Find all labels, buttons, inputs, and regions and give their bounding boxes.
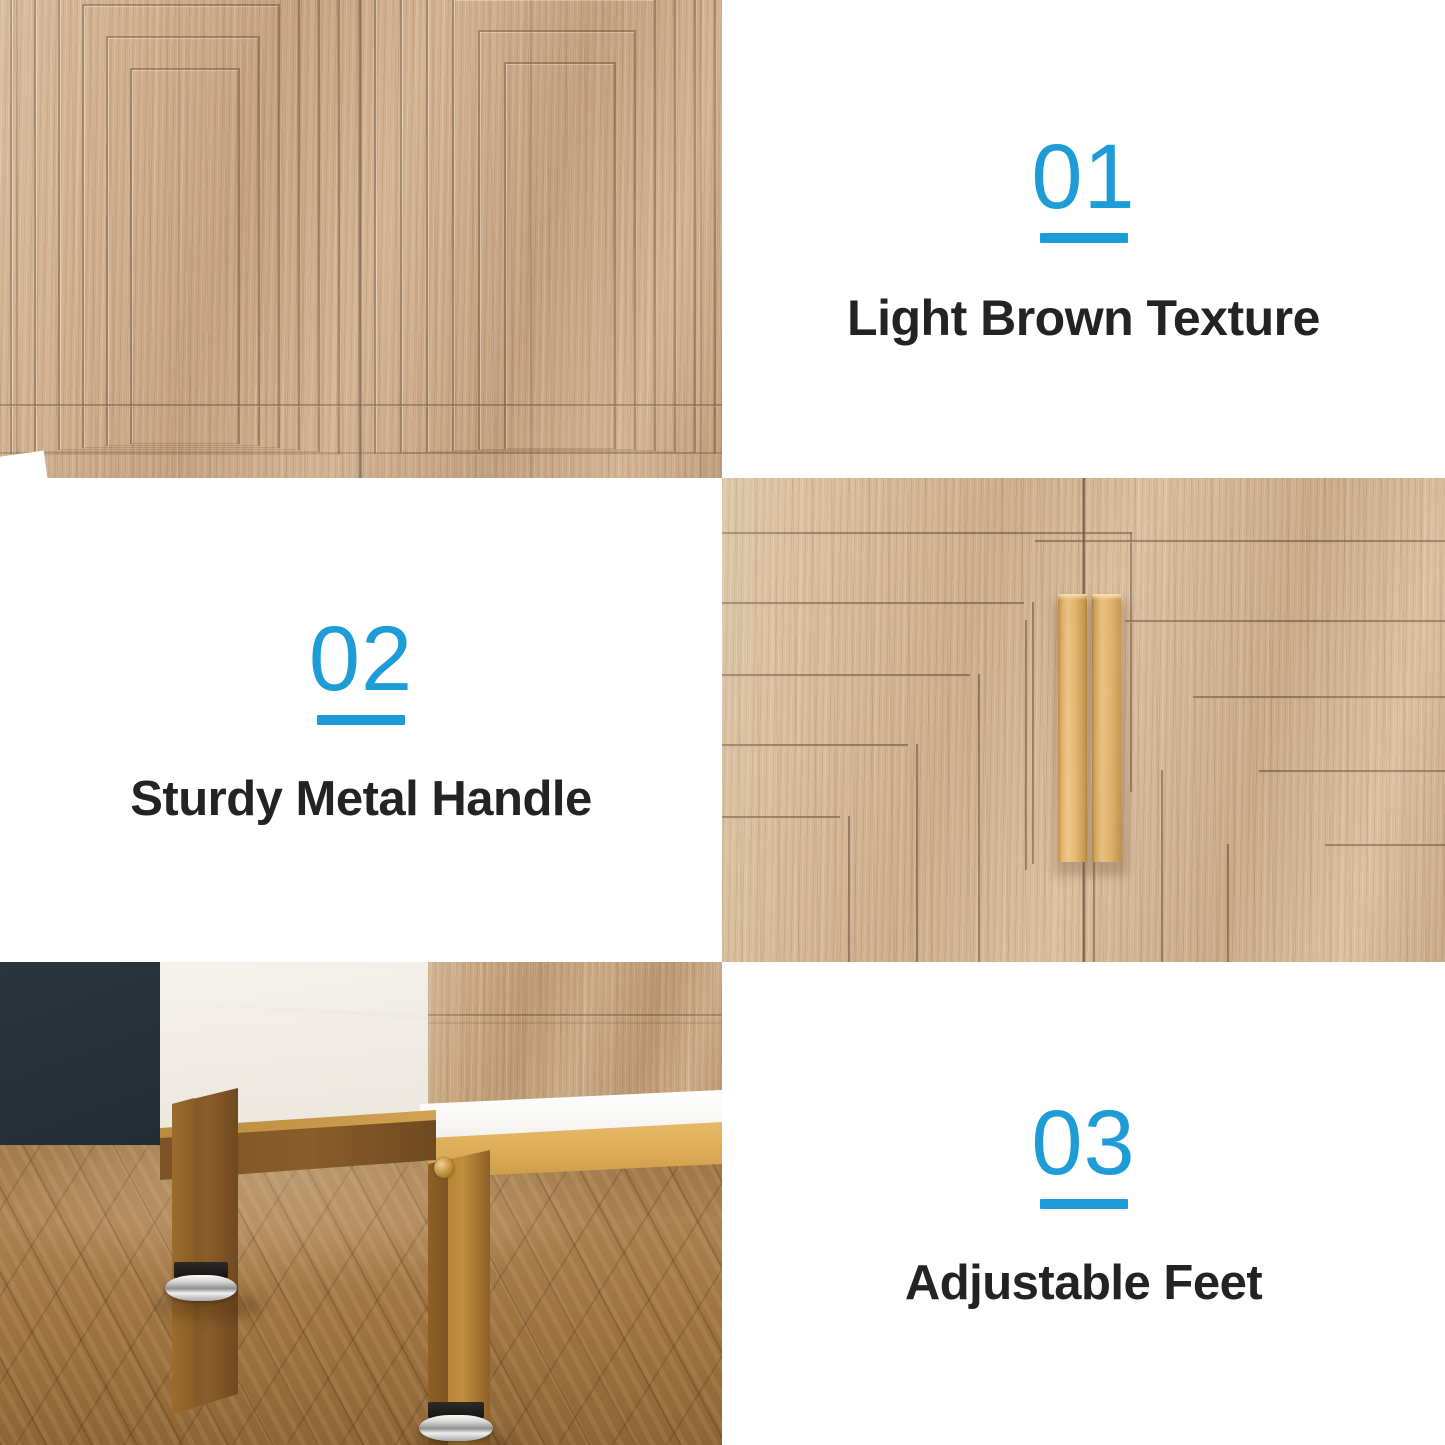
photo-corner-cut: [0, 451, 48, 478]
feature-number-underline: [1040, 233, 1128, 243]
feature-number-underline: [1040, 1199, 1128, 1209]
feature-number-01: 01: [1031, 131, 1135, 223]
feature-number-03-group: 03: [1031, 1097, 1135, 1209]
foot-chrome-pad: [419, 1415, 493, 1441]
feature-photo-adjustable-feet: [0, 962, 722, 1445]
feature-photo-wood-texture: [0, 0, 722, 478]
feature-number-02-group: 02: [309, 613, 413, 725]
cabinet-wood-door: [428, 962, 722, 1112]
floor-gloss: [0, 1145, 722, 1445]
feature-callout-02: 02 Sturdy Metal Handle: [0, 478, 722, 962]
foot-chrome-pad: [165, 1275, 237, 1301]
wood-lighting: [0, 0, 722, 478]
feature-number-03: 03: [1031, 1097, 1135, 1189]
feature-title-02: Sturdy Metal Handle: [130, 771, 592, 827]
herringbone-floor: [0, 1145, 722, 1445]
feature-number-02: 02: [309, 613, 413, 705]
feature-photo-metal-handle: [722, 478, 1445, 962]
feature-callout-01: 01 Light Brown Texture: [722, 0, 1445, 478]
feature-title-03: Adjustable Feet: [905, 1255, 1262, 1311]
adjustable-foot-rear: [174, 1262, 228, 1302]
feature-number-underline: [317, 715, 405, 725]
feature-collage: 01 Light Brown Texture 02 Sturdy Metal H…: [0, 0, 1445, 1445]
feature-title-01: Light Brown Texture: [847, 289, 1320, 347]
cabinet-leg-rear-shadowface: [172, 1074, 194, 1416]
wood-lighting: [722, 478, 1445, 962]
adjustable-foot-front: [428, 1402, 484, 1444]
leg-screw: [434, 1158, 454, 1178]
feature-number-01-group: 01: [1031, 131, 1135, 243]
feature-callout-03: 03 Adjustable Feet: [722, 962, 1445, 1445]
cabinet-leg-front-shadowface: [428, 1150, 448, 1445]
